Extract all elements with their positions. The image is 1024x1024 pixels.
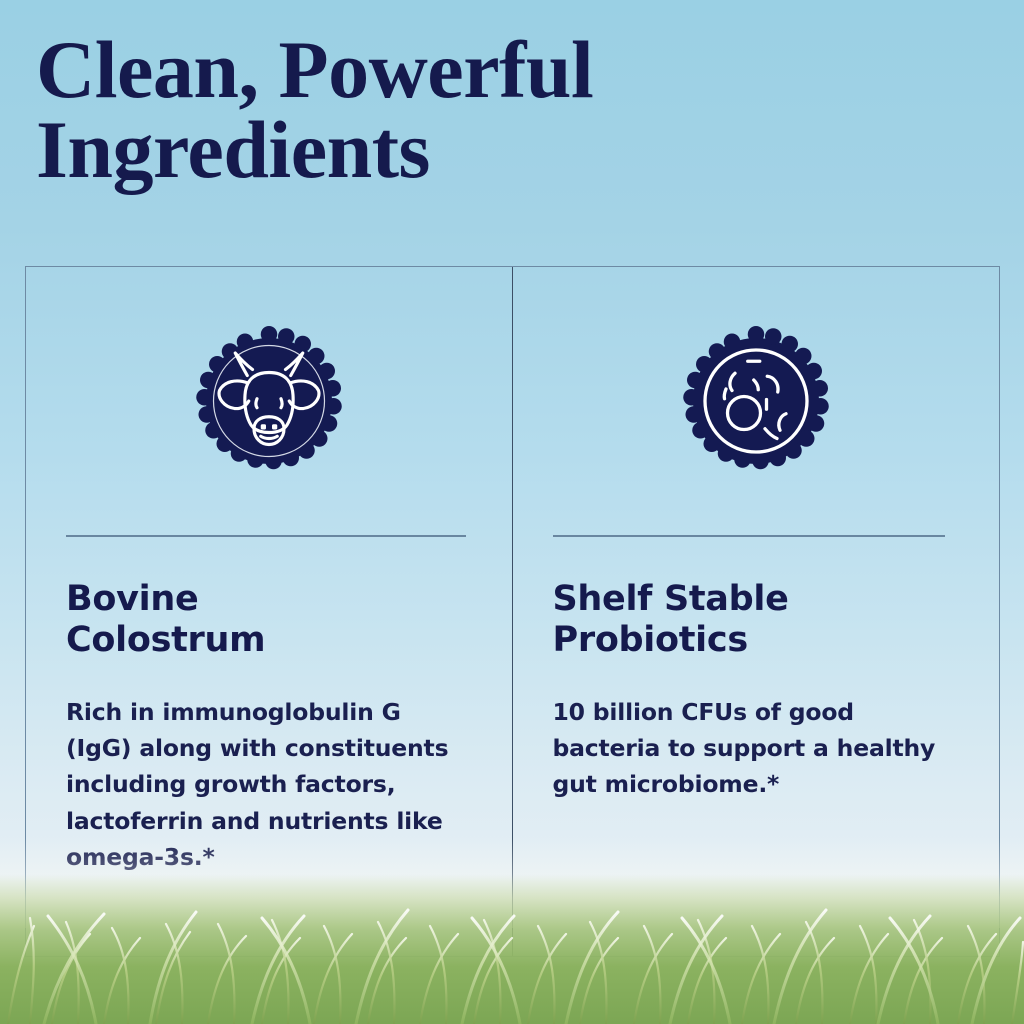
probiotics-badge-icon — [681, 326, 831, 476]
card-divider-rule — [553, 535, 945, 537]
badge-container-probiotics — [553, 267, 960, 535]
card-divider-rule — [66, 535, 466, 537]
ingredient-card-grid: Bovine Colostrum Rich in immunoglobulin … — [25, 266, 1000, 957]
card-heading-shelf-stable-probiotics: Shelf Stable Probiotics — [553, 579, 960, 662]
badge-container-cow — [66, 267, 472, 535]
ingredients-poster: Clean, Powerful Ingredients — [0, 0, 1024, 1024]
ingredient-card-shelf-stable-probiotics: Shelf Stable Probiotics 10 billion CFUs … — [513, 267, 1000, 956]
title-line-1: Clean, Powerful — [36, 30, 896, 110]
card-body-shelf-stable-probiotics: 10 billion CFUs of good bacteria to supp… — [553, 694, 953, 803]
ingredient-card-bovine-colostrum: Bovine Colostrum Rich in immunoglobulin … — [26, 267, 513, 956]
card-body-bovine-colostrum: Rich in immunoglobulin G (IgG) along wit… — [66, 694, 471, 876]
page-title: Clean, Powerful Ingredients — [36, 30, 896, 191]
card-heading-bovine-colostrum: Bovine Colostrum — [66, 579, 472, 662]
cow-badge-icon — [194, 326, 344, 476]
title-line-2: Ingredients — [36, 110, 896, 190]
